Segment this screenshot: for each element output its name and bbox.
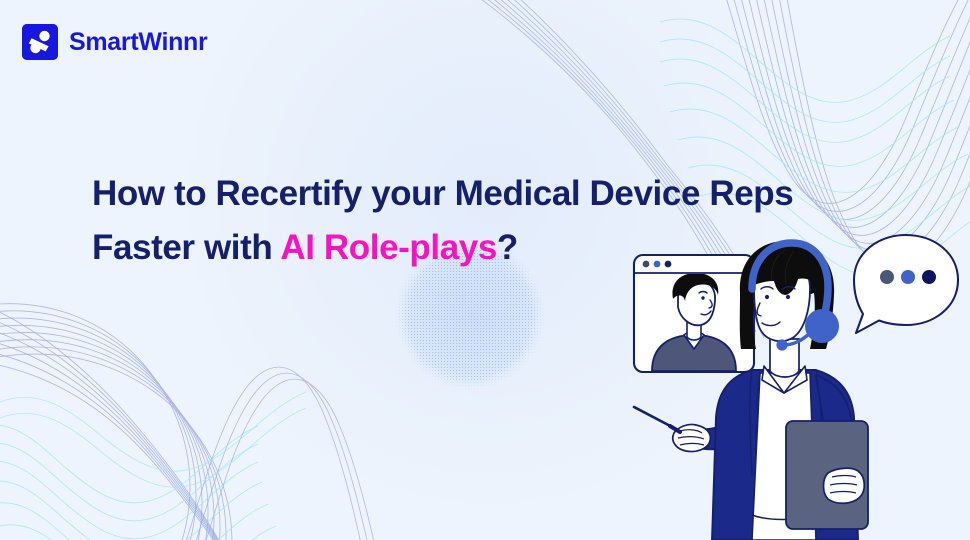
window-dot-3 bbox=[665, 261, 672, 268]
bubble-dot-1 bbox=[880, 270, 894, 284]
headline-line2-prefix: Faster with bbox=[92, 228, 280, 267]
presenter-right-hand bbox=[824, 468, 865, 503]
headline-accent-text: AI Role-plays bbox=[280, 228, 497, 267]
bubble-dot-3 bbox=[922, 270, 936, 284]
hero-illustration bbox=[600, 225, 970, 540]
headline-line-1: How to Recertify your Medical Device Rep… bbox=[92, 167, 892, 221]
presenter-left-hand-with-pointer bbox=[634, 407, 710, 452]
speech-bubble bbox=[854, 235, 958, 333]
headset-mic bbox=[776, 339, 787, 350]
presenter-eye-right bbox=[786, 295, 790, 299]
presenter-eye-left bbox=[765, 295, 769, 299]
brand-name: SmartWinnr bbox=[69, 30, 207, 55]
window-dot-2 bbox=[654, 261, 661, 268]
window-dot-1 bbox=[643, 261, 650, 268]
brand-logo[interactable]: SmartWinnr bbox=[22, 24, 207, 60]
headline-line2-suffix: ? bbox=[497, 228, 518, 267]
headset-earcup bbox=[805, 309, 839, 343]
bubble-dot-2 bbox=[901, 270, 915, 284]
slide-canvas: SmartWinnr How to Recertify your Medical… bbox=[0, 0, 970, 540]
video-call-window[interactable] bbox=[634, 255, 754, 372]
smartwinnr-s-logo-icon bbox=[22, 24, 58, 60]
